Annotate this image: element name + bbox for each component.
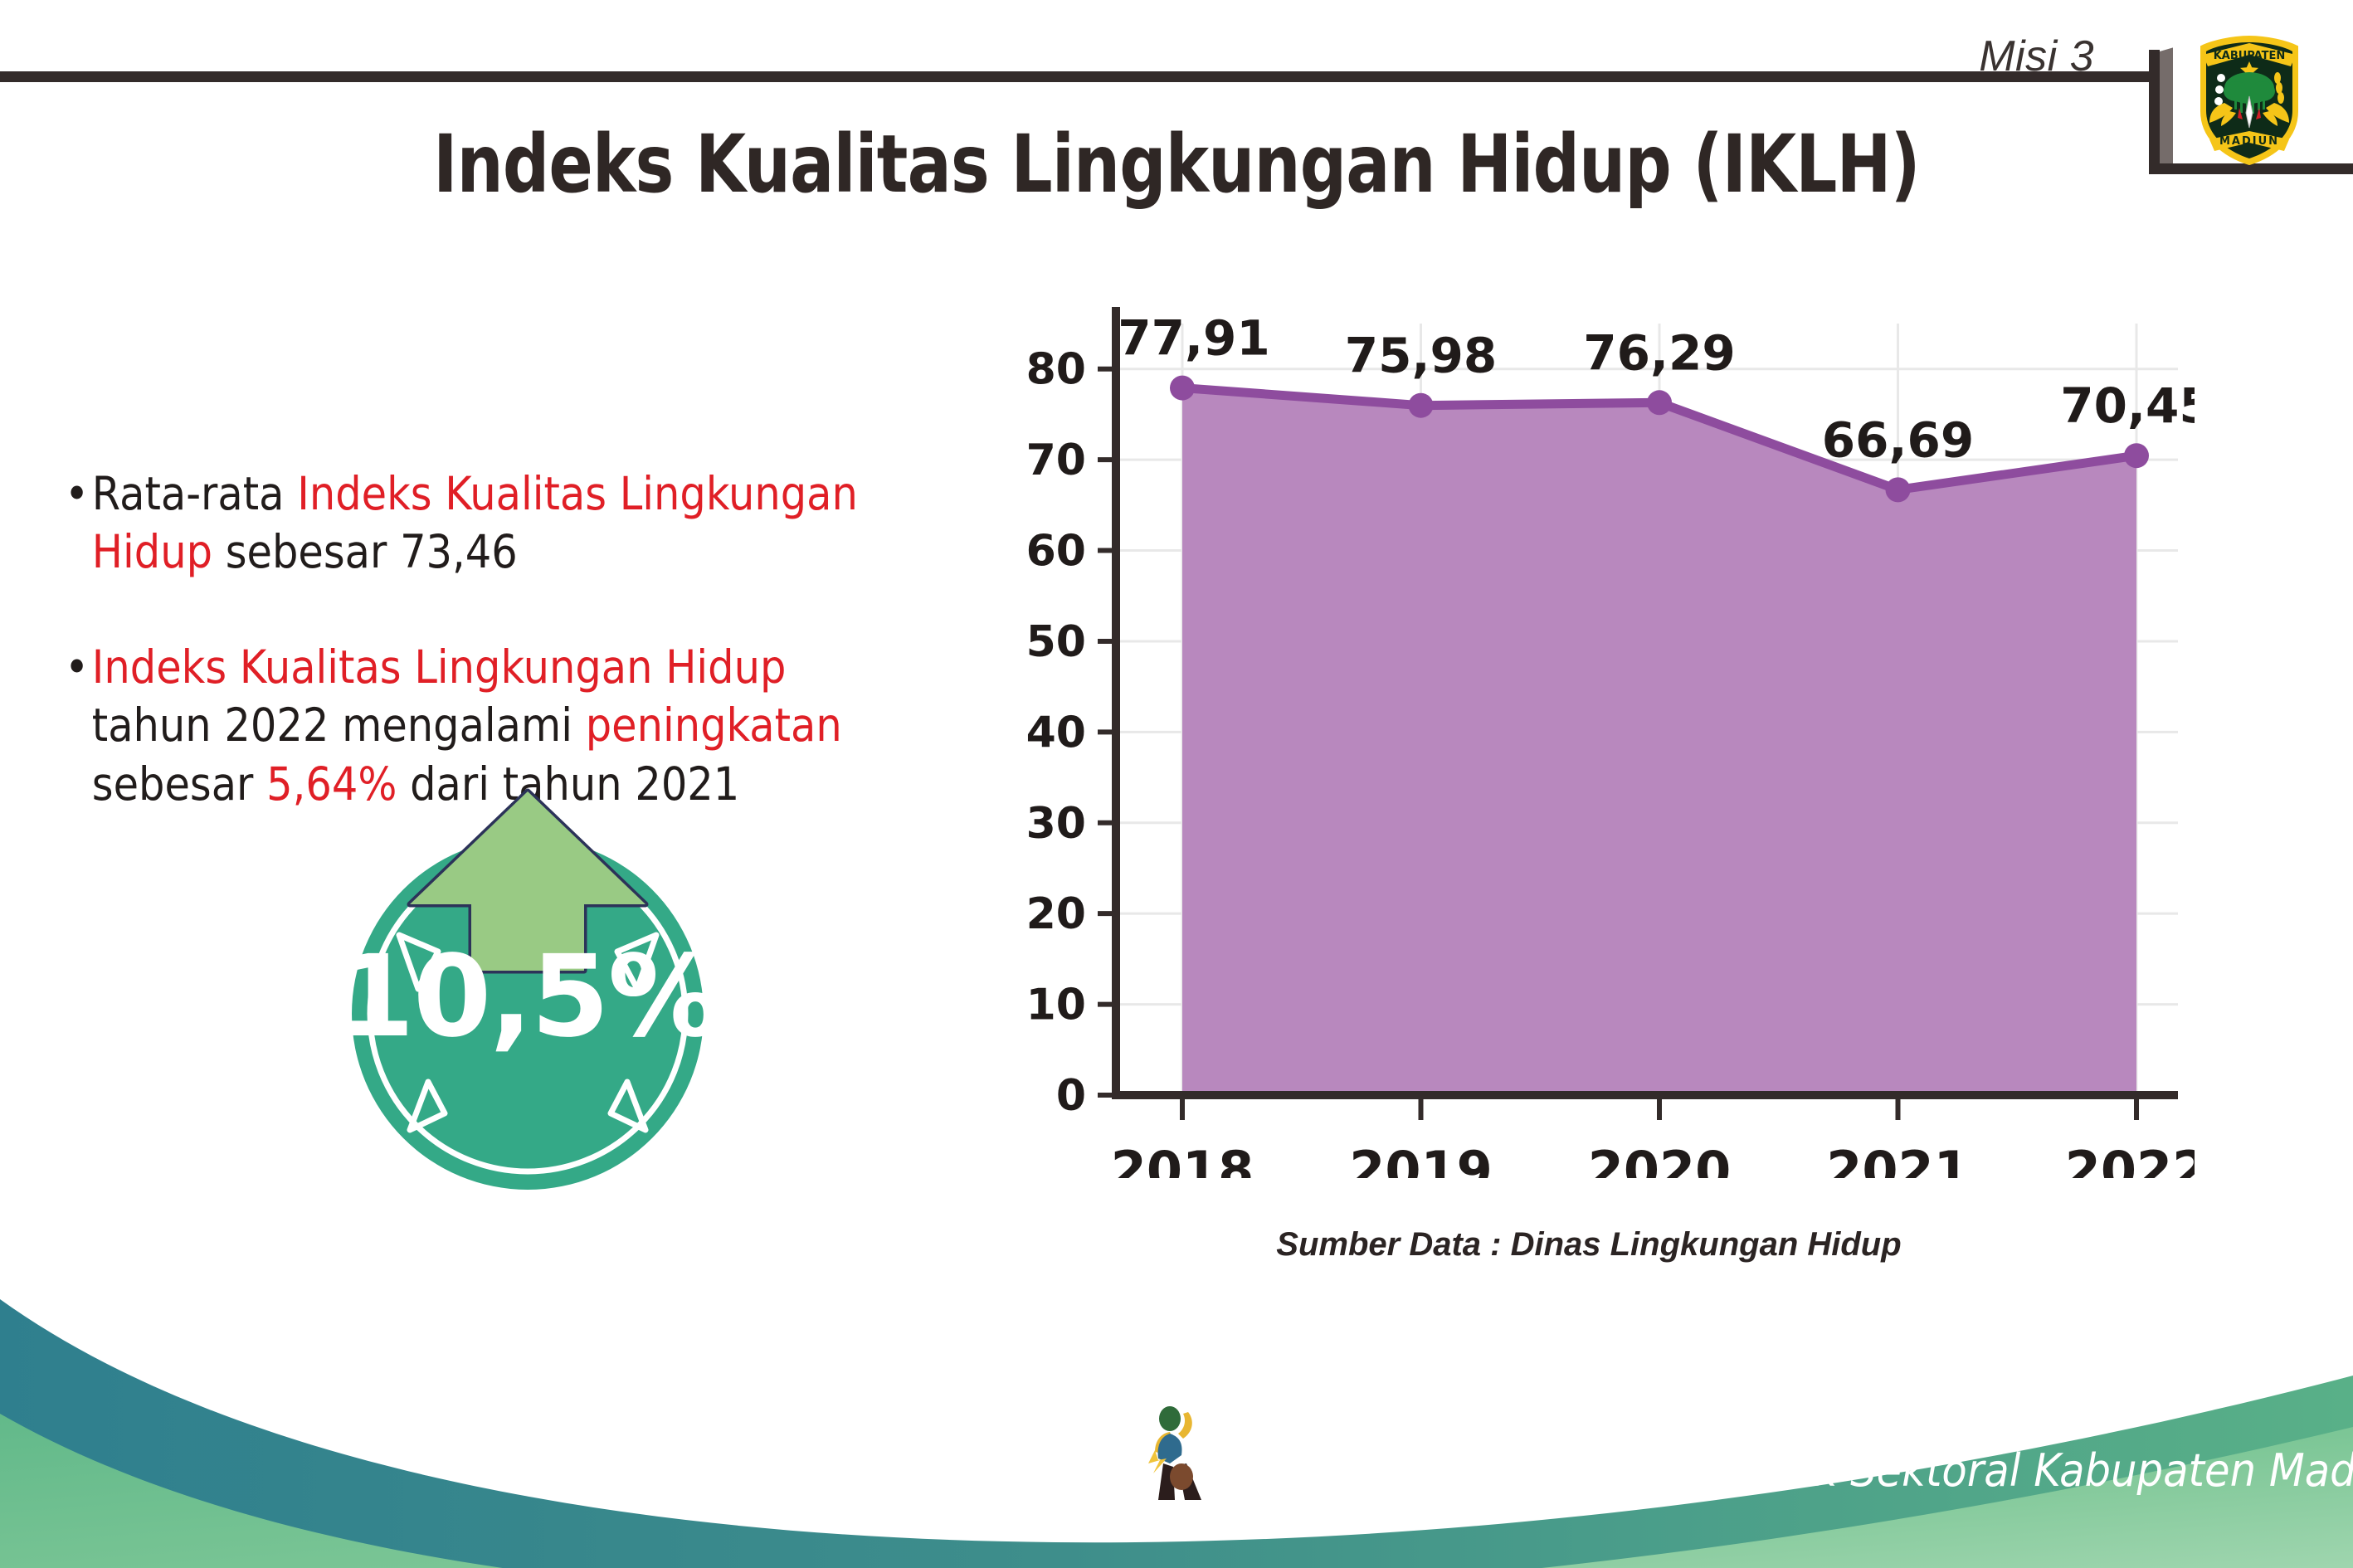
svg-text:80: 80	[1026, 345, 1086, 395]
svg-text:2019: 2019	[1349, 1140, 1493, 1178]
svg-text:2022: 2022	[2065, 1140, 2195, 1178]
chart-area-fill	[1182, 388, 2136, 1095]
page-title: Indeks Kualitas Lingkungan Hidup (IKLH)	[212, 118, 2141, 211]
bullet-text-0: Rata-rata Indeks Kualitas Lingkungan Hid…	[92, 465, 864, 582]
logo-top-text: KABUPATEN	[2214, 50, 2286, 62]
misi-label: Misi 3	[1979, 32, 2094, 81]
footer: Media Infografis Data Statistik Sektoral…	[0, 1220, 2353, 1568]
highlighted-phrase: peningkatan	[586, 699, 842, 752]
plain-phrase: Rata-rata	[92, 467, 297, 520]
plain-phrase: sebesar	[92, 757, 266, 811]
svg-text:77,91: 77,91	[1118, 310, 1269, 367]
logo-bottom-text: MADIUN	[2219, 135, 2279, 148]
highlighted-phrase: Indeks Kualitas Lingkungan Hidup	[92, 640, 787, 694]
header-rule	[0, 71, 2157, 82]
chart-x-tick-labels: 20182019202020212022	[1111, 1140, 2195, 1178]
list-item: • Rata-rata Indeks Kualitas Lingkungan H…	[65, 465, 864, 582]
svg-text:0: 0	[1056, 1071, 1086, 1121]
badge-percentage: 10,5%	[320, 941, 735, 1054]
bullet-marker: •	[65, 465, 89, 523]
plain-phrase: sebesar 73,46	[212, 525, 518, 578]
svg-text:2020: 2020	[1588, 1140, 1732, 1178]
svg-text:2018: 2018	[1111, 1140, 1254, 1178]
infographic-slide: Misi 3 KABUPATEN	[0, 0, 2353, 1568]
increase-badge: 10,5%	[320, 782, 735, 1196]
svg-text:66,69: 66,69	[1822, 411, 1974, 468]
svg-text:2021: 2021	[1826, 1140, 1970, 1178]
svg-text:60: 60	[1026, 527, 1086, 577]
header-rule-vertical	[2149, 50, 2160, 174]
statistik-figure-logo-icon	[1145, 1400, 1216, 1508]
svg-text:50: 50	[1026, 617, 1086, 667]
svg-text:75,98: 75,98	[1345, 328, 1497, 384]
iklh-area-chart: 01020304050607080 20182019202020212022 7…	[983, 299, 2195, 1178]
highlights-list: • Rata-rata Indeks Kualitas Lingkungan H…	[65, 465, 952, 813]
svg-text:10: 10	[1026, 981, 1086, 1030]
bullet-marker: •	[65, 638, 89, 696]
header-corner-shadow	[2160, 47, 2173, 174]
kabupaten-madiun-emblem-icon: KABUPATEN	[2188, 32, 2311, 168]
footer-caption: Media Infografis Data Statistik Sektoral…	[1213, 1444, 2353, 1497]
svg-text:70: 70	[1026, 436, 1086, 485]
svg-text:76,29: 76,29	[1583, 324, 1735, 381]
chart-y-tick-labels: 01020304050607080	[1026, 345, 1086, 1121]
svg-text:20: 20	[1026, 889, 1086, 939]
svg-text:30: 30	[1026, 799, 1086, 849]
plain-phrase: tahun 2022 mengalami	[92, 699, 586, 752]
svg-text:70,45: 70,45	[2060, 377, 2195, 434]
svg-text:40: 40	[1026, 708, 1086, 757]
